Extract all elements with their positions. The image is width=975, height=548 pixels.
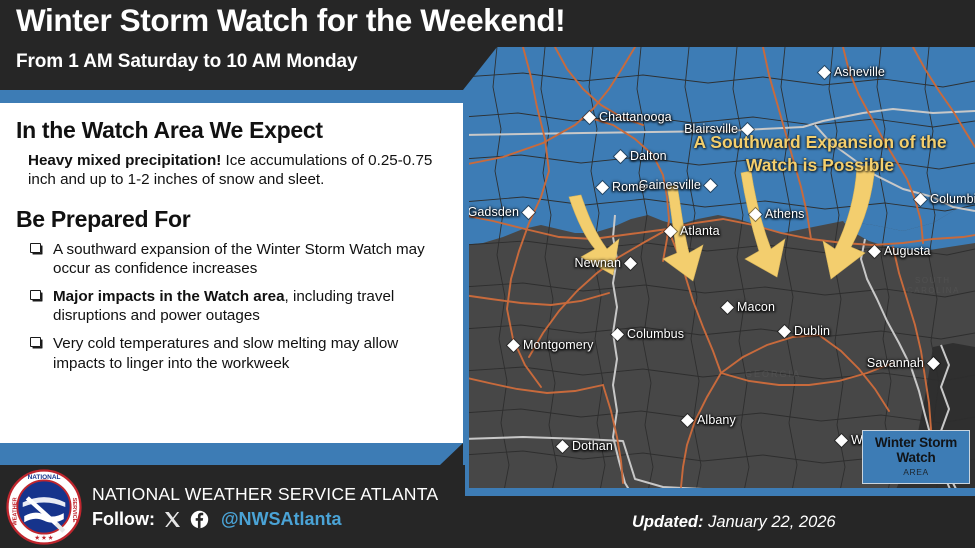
social-handle[interactable]: @NWSAtlanta [221,509,342,530]
updated-date: January 22, 2026 [704,513,836,531]
updated-stamp: Updated: January 22, 2026 [632,513,836,532]
nws-weather-graphic: GEORGIA SOUTH CAROLINA AshevilleChattano… [0,0,975,548]
section-heading-prepare: Be Prepared For [16,206,445,233]
panel-accent-bar [0,443,463,465]
map-left-accent-bar [463,47,469,496]
facebook-icon[interactable] [190,510,209,529]
follow-label: Follow: [92,509,155,530]
section-heading-expect: In the Watch Area We Expect [16,117,445,144]
state-label-georgia: GEORGIA [745,369,801,379]
legend-line-2: Watch [897,450,936,465]
bullet-bold-text: Major impacts in the Watch area [53,288,285,305]
nws-seal-logo: NATIONAL ★ ★ ★ WEATHER SERVICE [6,469,82,545]
legend-line-1: Winter Storm [875,435,957,450]
state-label-south-carolina: SOUTH [915,276,951,285]
updated-label: Updated: [632,513,704,531]
bullet-text: A southward expansion of the Winter Stor… [53,241,425,277]
updated-bar: Updated: January 22, 2026 [465,496,975,548]
svg-text:NATIONAL: NATIONAL [28,473,61,480]
svg-text:SERVICE: SERVICE [71,497,77,522]
x-twitter-icon[interactable] [163,510,182,529]
state-label-south-carolina-2: CAROLINA [907,286,960,295]
map-geography-svg: GEORGIA SOUTH CAROLINA [463,47,975,496]
agency-name: NATIONAL WEATHER SERVICE ATLANTA [92,484,438,505]
page-subtitle: From 1 AM Saturday to 10 AM Monday [16,51,357,73]
checkbox-icon [30,243,41,253]
legend-line-3: AREA [863,467,969,477]
prepare-bullet-item: Very cold temperatures and slow melting … [28,334,435,372]
checkbox-icon [30,337,41,347]
expect-paragraph: Heavy mixed precipitation! Ice accumulat… [28,151,437,190]
footer-bar: NATIONAL ★ ★ ★ WEATHER SERVICE NATIONAL … [0,465,465,548]
bullet-text: Very cold temperatures and slow melting … [53,335,398,371]
prepare-bullet-item: Major impacts in the Watch area, includi… [28,287,435,325]
map-bottom-accent-bar [463,488,975,496]
page-title: Winter Storm Watch for the Weekend! [16,2,565,39]
content-panel: In the Watch Area We Expect Heavy mixed … [0,103,463,443]
prepare-bullet-item: A southward expansion of the Winter Stor… [28,240,435,278]
footer-text-block: NATIONAL WEATHER SERVICE ATLANTA Follow:… [92,484,438,530]
svg-text:WEATHER: WEATHER [13,497,19,525]
follow-row: Follow: @NWSAtlanta [92,509,438,530]
expect-lead-bold: Heavy mixed precipitation! [28,152,221,169]
svg-text:★ ★ ★: ★ ★ ★ [35,534,54,541]
prepare-bullet-list: A southward expansion of the Winter Stor… [28,240,445,373]
checkbox-icon [30,290,41,300]
map-legend-winter-storm-watch: Winter Storm Watch AREA [862,430,970,484]
header-accent-bar [0,90,465,103]
weather-map: GEORGIA SOUTH CAROLINA [463,47,975,496]
